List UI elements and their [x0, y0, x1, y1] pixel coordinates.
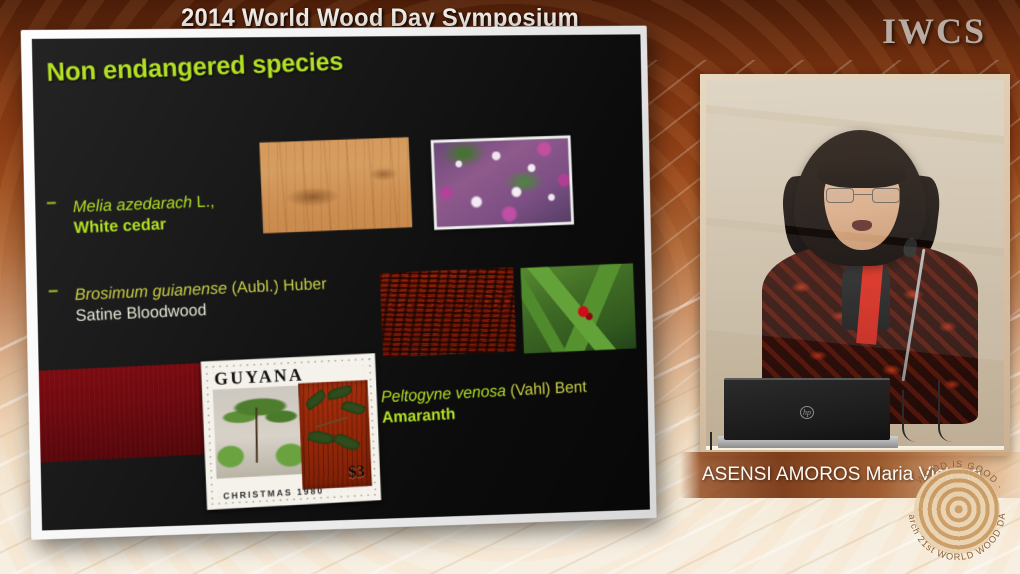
bullet-dash-icon [49, 290, 58, 292]
presentation-slide-panel[interactable]: Non endangered species Melia azedarach L… [21, 26, 657, 540]
photo-brosimum-fruit [521, 263, 637, 353]
stamp-price: $3 [348, 462, 365, 483]
speaker-name-bar: ASENSI AMOROS Maria Victoria [680, 452, 1020, 498]
slide-canvas: Non endangered species Melia azedarach L… [32, 34, 650, 530]
species-authority-2: (Aubl.) Huber [231, 275, 327, 297]
app-background: 2014 World Wood Day Symposium IWCS Non e… [0, 0, 1020, 574]
stamp-leaf [327, 385, 353, 400]
stamp-tree-illustration [213, 385, 310, 479]
slide-title: Non endangered species [46, 46, 344, 88]
stamp-leaf [307, 429, 334, 447]
speaker-video-panel[interactable]: hp [700, 74, 1010, 456]
speaker-mouth [852, 220, 872, 231]
bullet-dash-icon [47, 202, 56, 204]
stamp-branch [316, 416, 348, 428]
cable [902, 390, 924, 442]
stamp-caption: CHRISTMAS 1980 [223, 486, 324, 501]
iwcs-logo: IWCS [882, 10, 986, 52]
speaker-glasses-icon [826, 188, 900, 203]
guyana-postage-stamp: GUYANA Peltogyne venosa $3 [201, 353, 381, 510]
bullet-item-3: Peltogyne venosa (Vahl) Bent Amaranth [381, 374, 647, 428]
photo-melia-flowers [431, 135, 574, 230]
stamp-wood-panel: $3 [298, 380, 372, 490]
species-authority-3: (Vahl) Bent [510, 378, 587, 399]
slide-frame: Non endangered species Melia azedarach L… [21, 26, 657, 540]
bullet-item-1: Melia azedarach L., White cedar [47, 183, 438, 240]
cable [710, 432, 726, 450]
species-authority-1: L., [196, 193, 215, 212]
stamp-leaf [332, 431, 360, 454]
stamp-leaf [341, 399, 366, 417]
speaker-video-feed: hp [706, 80, 1004, 450]
cable [938, 380, 964, 442]
species-name-1: Melia azedarach [73, 194, 193, 217]
stamp-leaf [304, 389, 328, 411]
species-name-3: Peltogyne venosa [381, 382, 506, 406]
speaker-name: ASENSI AMOROS Maria Victoria [680, 464, 981, 486]
laptop-screen: hp [724, 378, 890, 440]
hp-logo-icon: hp [800, 406, 814, 419]
